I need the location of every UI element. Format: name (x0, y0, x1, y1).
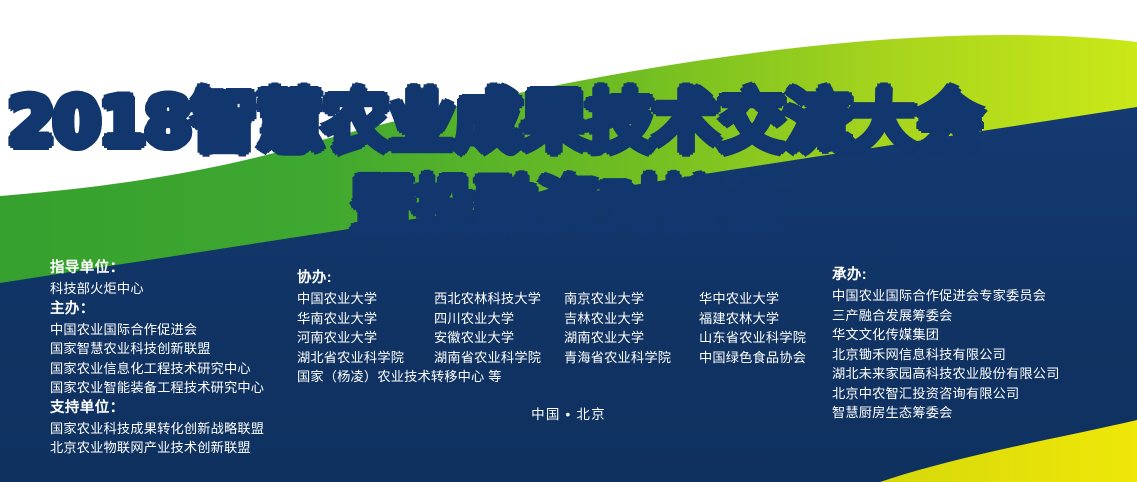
co-organizer-item: 山东省农业科学院 (699, 328, 827, 348)
host-item: 国家智慧农业科技创新联盟 (50, 339, 300, 359)
organizer-column: 承办: 中国农业国际合作促进会专家委员会 三产融合发展筹委会 华文文化传媒集团 … (832, 265, 1132, 423)
organizer-item: 中国农业国际合作促进会专家委员会 (832, 286, 1132, 306)
co-organizer-item: 四川农业大学 (434, 309, 564, 329)
co-organizer-heading: 协办: (297, 268, 827, 288)
co-organizer-item: 华南农业大学 (297, 309, 434, 329)
host-item: 中国农业国际合作促进会 (50, 320, 300, 340)
co-organizer-item: 中国绿色食品协会 (699, 348, 827, 368)
co-organizer-item: 西北农林科技大学 (434, 289, 564, 309)
guide-item: 科技部火炬中心 (50, 279, 300, 299)
host-item: 国家农业信息化工程技术研究中心 (50, 359, 300, 379)
credits-layer: 指导单位： 科技部火炬中心 主办： 中国农业国际合作促进会 国家智慧农业科技创新… (0, 0, 1137, 482)
guide-heading: 指导单位： (50, 258, 300, 278)
city-line: 中国 • 北京 (0, 403, 1137, 423)
support-item: 北京农业物联网产业技术创新联盟 (50, 438, 300, 458)
co-organizer-grid: 中国农业大学 西北农林科技大学 南京农业大学 华中农业大学 华南农业大学 四川农… (297, 289, 827, 367)
co-organizer-item: 华中农业大学 (699, 289, 827, 309)
co-organizer-tail: 国家（杨凌）农业技术转移中心 等 (297, 367, 827, 387)
organizer-item: 湖北未来家园高科技农业股份有限公司 (832, 364, 1132, 384)
poster-banner: 2018智慧农业成果技术交流大会 暨投融资对接会 指导单位： 科技部火炬中心 主… (0, 0, 1137, 482)
co-organizer-item: 湖北省农业科学院 (297, 348, 434, 368)
organizer-item: 华文文化传媒集团 (832, 325, 1132, 345)
organizer-heading: 承办: (832, 265, 1132, 285)
co-organizer-item: 吉林农业大学 (564, 309, 699, 329)
co-organizer-item: 湖南省农业科学院 (434, 348, 564, 368)
co-organizer-item: 湖南农业大学 (564, 328, 699, 348)
organizer-item: 北京中农智汇投资咨询有限公司 (832, 384, 1132, 404)
host-item: 国家农业智能装备工程技术研究中心 (50, 378, 300, 398)
co-organizer-column: 协办: 中国农业大学 西北农林科技大学 南京农业大学 华中农业大学 华南农业大学… (297, 268, 827, 387)
co-organizer-item: 青海省农业科学院 (564, 348, 699, 368)
organizer-item: 三产融合发展筹委会 (832, 306, 1132, 326)
co-organizer-item: 中国农业大学 (297, 289, 434, 309)
co-organizer-item: 河南农业大学 (297, 328, 434, 348)
co-organizer-item: 安徽农业大学 (434, 328, 564, 348)
co-organizer-item: 南京农业大学 (564, 289, 699, 309)
organizer-item: 北京锄禾网信息科技有限公司 (832, 345, 1132, 365)
co-organizer-item: 福建农林大学 (699, 309, 827, 329)
guide-column: 指导单位： 科技部火炬中心 主办： 中国农业国际合作促进会 国家智慧农业科技创新… (50, 258, 300, 458)
host-heading: 主办： (50, 299, 300, 319)
